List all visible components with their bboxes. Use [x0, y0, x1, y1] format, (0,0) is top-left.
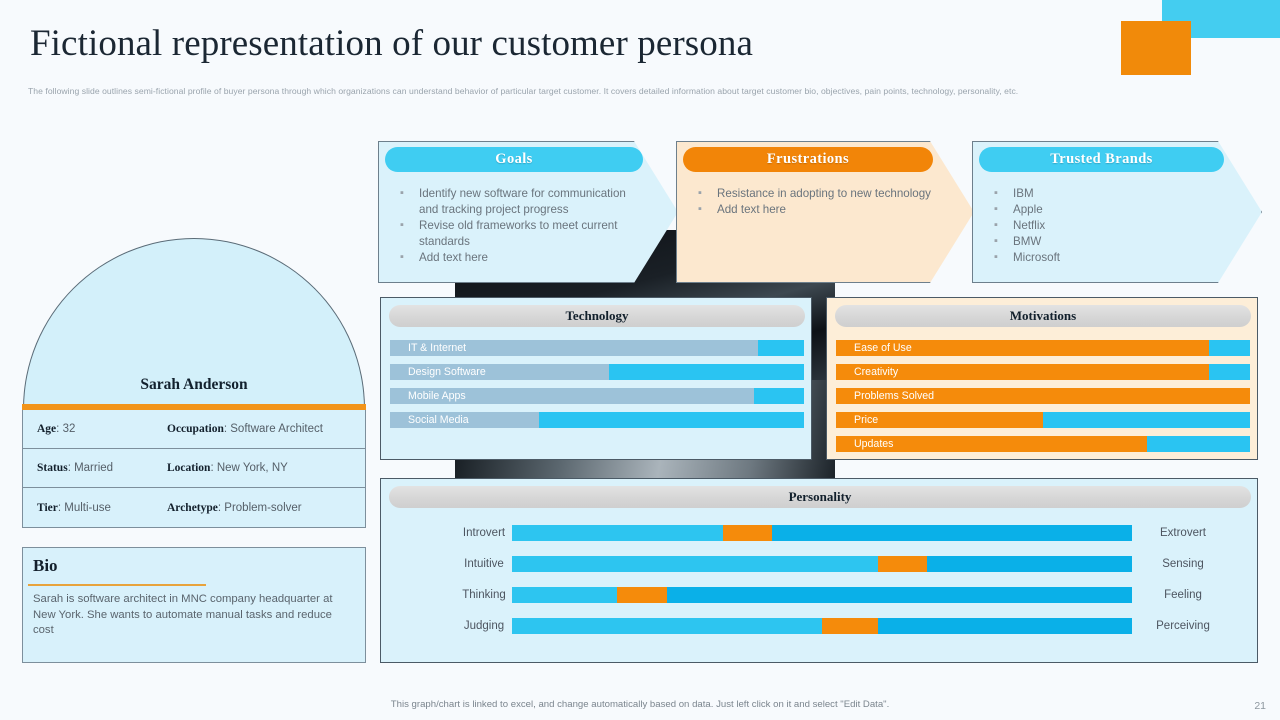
personality-chart-title: Personality [389, 486, 1251, 508]
bar-label: Social Media [408, 412, 469, 428]
bar-remainder [609, 364, 804, 380]
page-number: 21 [1254, 700, 1266, 712]
field-label: Tier [37, 502, 58, 514]
list-item: IBM [991, 186, 1235, 202]
personality-track[interactable] [512, 556, 1132, 572]
motivations-chart-title: Motivations [835, 305, 1251, 327]
bar-label: Design Software [408, 364, 486, 380]
personality-right-label: Extrovert [1123, 527, 1243, 539]
technology-bars: IT & InternetDesign SoftwareMobile AppsS… [390, 340, 804, 436]
list-item: Add text here [397, 250, 641, 266]
personality-row: IntuitiveSensing [381, 556, 1259, 572]
list-item: Identify new software for communication … [397, 186, 641, 218]
personality-chart-panel[interactable]: Personality IntrovertExtrovertIntuitiveS… [380, 478, 1258, 663]
field-label: Status [37, 462, 68, 474]
list-item: Revise old frameworks to meet current st… [397, 218, 641, 250]
field-value: Multi-use [64, 502, 111, 514]
page-subtitle: The following slide outlines semi-fictio… [28, 86, 1264, 96]
bar-label: Problems Solved [854, 388, 934, 404]
bio-underline [28, 584, 206, 586]
list-item: Apple [991, 202, 1235, 218]
bar-row: Mobile Apps [390, 388, 804, 404]
personality-rows: IntrovertExtrovertIntuitiveSensingThinki… [381, 525, 1259, 649]
personality-marker[interactable] [822, 618, 878, 634]
bar-remainder [1043, 412, 1250, 428]
bar-remainder [754, 388, 804, 404]
persona-field-tier: Tier: Multi-use [23, 502, 167, 514]
field-label: Archetype [167, 502, 218, 514]
slide-root: Fictional representation of our customer… [0, 0, 1280, 720]
personality-row: JudgingPerceiving [381, 618, 1259, 634]
goals-list: Identify new software for communication … [397, 186, 641, 266]
bar-label: Creativity [854, 364, 898, 380]
field-value: 32 [63, 423, 76, 435]
field-label: Age [37, 423, 56, 435]
motivations-chart-panel[interactable]: Motivations Ease of UseCreativityProblem… [826, 297, 1258, 460]
bar-row: Problems Solved [836, 388, 1250, 404]
trusted-brands-panel: Trusted Brands IBM Apple Netflix BMW Mic… [972, 141, 1262, 283]
bar-label: Mobile Apps [408, 388, 466, 404]
frustrations-panel: Frustrations Resistance in adopting to n… [676, 141, 974, 283]
persona-field-age: Age: 32 [23, 423, 167, 435]
frustrations-title: Frustrations [683, 147, 933, 172]
personality-track[interactable] [512, 587, 1132, 603]
personality-row: ThinkingFeeling [381, 587, 1259, 603]
persona-field-archetype: Archetype: Problem-solver [167, 502, 365, 514]
personality-marker[interactable] [723, 525, 773, 541]
list-item: BMW [991, 234, 1235, 250]
personality-tail [667, 587, 1132, 603]
bar-remainder [1147, 436, 1251, 452]
personality-row: IntrovertExtrovert [381, 525, 1259, 541]
bar-remainder [539, 412, 804, 428]
bar-remainder [758, 340, 804, 356]
table-row: Status: Married Location: New York, NY [23, 449, 365, 488]
trusted-brands-title: Trusted Brands [979, 147, 1224, 172]
field-label: Occupation [167, 423, 224, 435]
personality-right-label: Sensing [1123, 558, 1243, 570]
goals-title: Goals [385, 147, 643, 172]
table-row: Age: 32 Occupation: Software Architect [23, 410, 365, 449]
bar-label: Updates [854, 436, 893, 452]
list-item: Add text here [695, 202, 939, 218]
bar-label: Ease of Use [854, 340, 912, 356]
bar-row: Design Software [390, 364, 804, 380]
bar-label: Price [854, 412, 878, 428]
personality-marker[interactable] [878, 556, 928, 572]
table-row: Tier: Multi-use Archetype: Problem-solve… [23, 488, 365, 527]
bar-row: IT & Internet [390, 340, 804, 356]
bar-row: Ease of Use [836, 340, 1250, 356]
persona-name: Sarah Anderson [23, 376, 365, 394]
field-value: New York, NY [217, 462, 288, 474]
footer-note: This graph/chart is linked to excel, and… [0, 699, 1280, 710]
persona-bio-box: Bio Sarah is software architect in MNC c… [22, 547, 366, 663]
personality-track[interactable] [512, 618, 1132, 634]
technology-chart-title: Technology [389, 305, 805, 327]
bio-title: Bio [33, 556, 58, 576]
list-item: Resistance in adopting to new technology [695, 186, 939, 202]
personality-tail [878, 618, 1132, 634]
personality-right-label: Perceiving [1123, 620, 1243, 632]
personality-tail [927, 556, 1132, 572]
motivations-bars: Ease of UseCreativityProblems SolvedPric… [836, 340, 1250, 460]
bio-text: Sarah is software architect in MNC compa… [33, 592, 355, 639]
bar-remainder [1209, 340, 1250, 356]
persona-details-table: Age: 32 Occupation: Software Architect S… [22, 410, 366, 528]
bar-label: IT & Internet [408, 340, 466, 356]
bar-remainder [1209, 364, 1250, 380]
field-value: Married [74, 462, 113, 474]
bar-row: Updates [836, 436, 1250, 452]
persona-field-location: Location: New York, NY [167, 462, 365, 474]
persona-field-occupation: Occupation: Software Architect [167, 423, 365, 435]
persona-field-status: Status: Married [23, 462, 167, 474]
page-title: Fictional representation of our customer… [30, 22, 753, 65]
technology-chart-panel[interactable]: Technology IT & InternetDesign SoftwareM… [380, 297, 812, 460]
list-item: Netflix [991, 218, 1235, 234]
trusted-brands-list: IBM Apple Netflix BMW Microsoft [991, 186, 1235, 266]
personality-track[interactable] [512, 525, 1132, 541]
bar-row: Price [836, 412, 1250, 428]
field-value: Problem-solver [224, 502, 301, 514]
personality-right-label: Feeling [1123, 589, 1243, 601]
bar-row: Creativity [836, 364, 1250, 380]
decor-orange-rect [1121, 21, 1191, 75]
personality-marker[interactable] [617, 587, 667, 603]
bar-row: Social Media [390, 412, 804, 428]
list-item: Microsoft [991, 250, 1235, 266]
field-value: Software Architect [230, 423, 323, 435]
field-label: Location [167, 462, 210, 474]
frustrations-list: Resistance in adopting to new technology… [695, 186, 939, 218]
personality-tail [772, 525, 1132, 541]
goals-panel: Goals Identify new software for communic… [378, 141, 678, 283]
